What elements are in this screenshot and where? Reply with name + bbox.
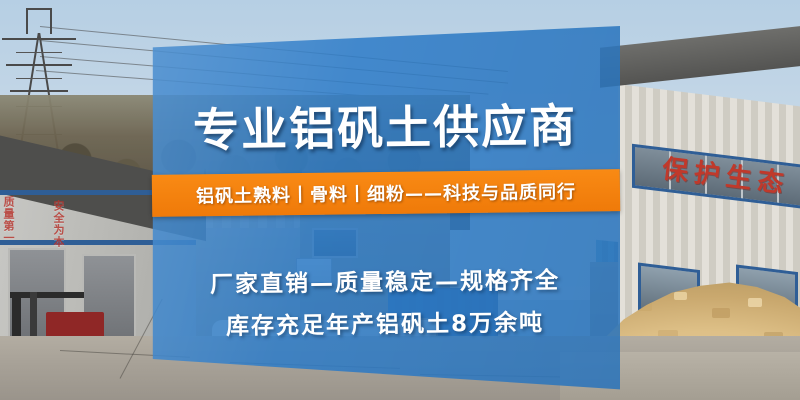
- left-building-sign-2: 安全为本: [50, 200, 66, 248]
- left-building-sign-1: 质量第一: [0, 196, 16, 244]
- banner-image: 质量第一 安全为本 保护: [0, 0, 800, 400]
- tower-brace: [16, 78, 62, 79]
- ore-chunk: [712, 308, 730, 318]
- banner-content: 专业铝矾土供应商 铝矾土熟料丨骨料丨细粉——科技与品质同行 厂家直销—质量稳定—…: [150, 20, 620, 395]
- ore-chunk: [674, 292, 687, 300]
- tower-arm: [10, 90, 68, 92]
- tower-arm: [6, 64, 72, 66]
- banner-subline-2: 库存充足年产铝矾土8万余吨: [150, 302, 620, 342]
- banner-headline: 专业铝矾土供应商: [150, 89, 621, 161]
- orange-ribbon-bar: 铝矾土熟料丨骨料丨细粉——科技与品质同行: [152, 169, 620, 217]
- ribbon-text: 铝矾土熟料丨骨料丨细粉——科技与品质同行: [196, 178, 576, 209]
- tower-cap: [26, 8, 52, 34]
- ore-chunk: [748, 298, 762, 307]
- tower-brace: [16, 52, 62, 53]
- forklift-mast-top: [10, 292, 84, 298]
- banner-subline-1: 厂家直销—质量稳定—规格齐全: [150, 260, 620, 300]
